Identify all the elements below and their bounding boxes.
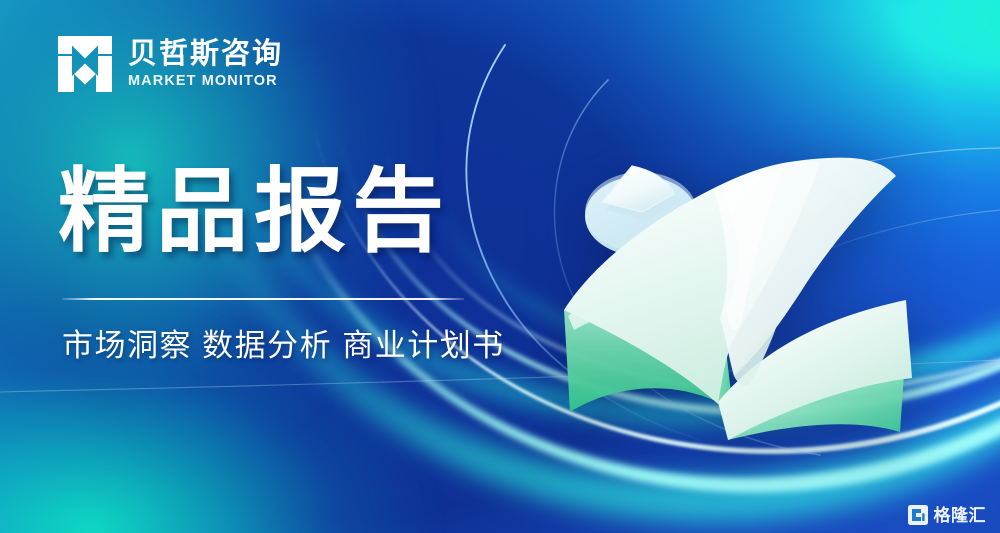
publisher-watermark[interactable]: 格隆汇 [908, 505, 987, 525]
m-monogram-icon [58, 36, 112, 92]
hero-divider [62, 298, 464, 300]
brand-name-cn: 贝哲斯咨询 [128, 40, 283, 69]
hero-text-block: 精品报告 市场洞察 数据分析 商业计划书 [58, 166, 505, 361]
brand-logo-lockup[interactable]: 贝哲斯咨询 MARKET MONITOR [58, 36, 283, 92]
brand-logo-text: 贝哲斯咨询 MARKET MONITOR [128, 40, 283, 89]
promo-banner: 贝哲斯咨询 MARKET MONITOR 精品报告 市场洞察 数据分析 商业计划… [0, 0, 1000, 533]
brand-name-en: MARKET MONITOR [128, 74, 283, 89]
open-book-illustration [528, 140, 948, 440]
hero-subheadline: 市场洞察 数据分析 商业计划书 [62, 330, 505, 361]
g-badge-icon [908, 505, 928, 525]
hero-headline: 精品报告 [58, 166, 505, 260]
publisher-name: 格隆汇 [934, 507, 987, 524]
